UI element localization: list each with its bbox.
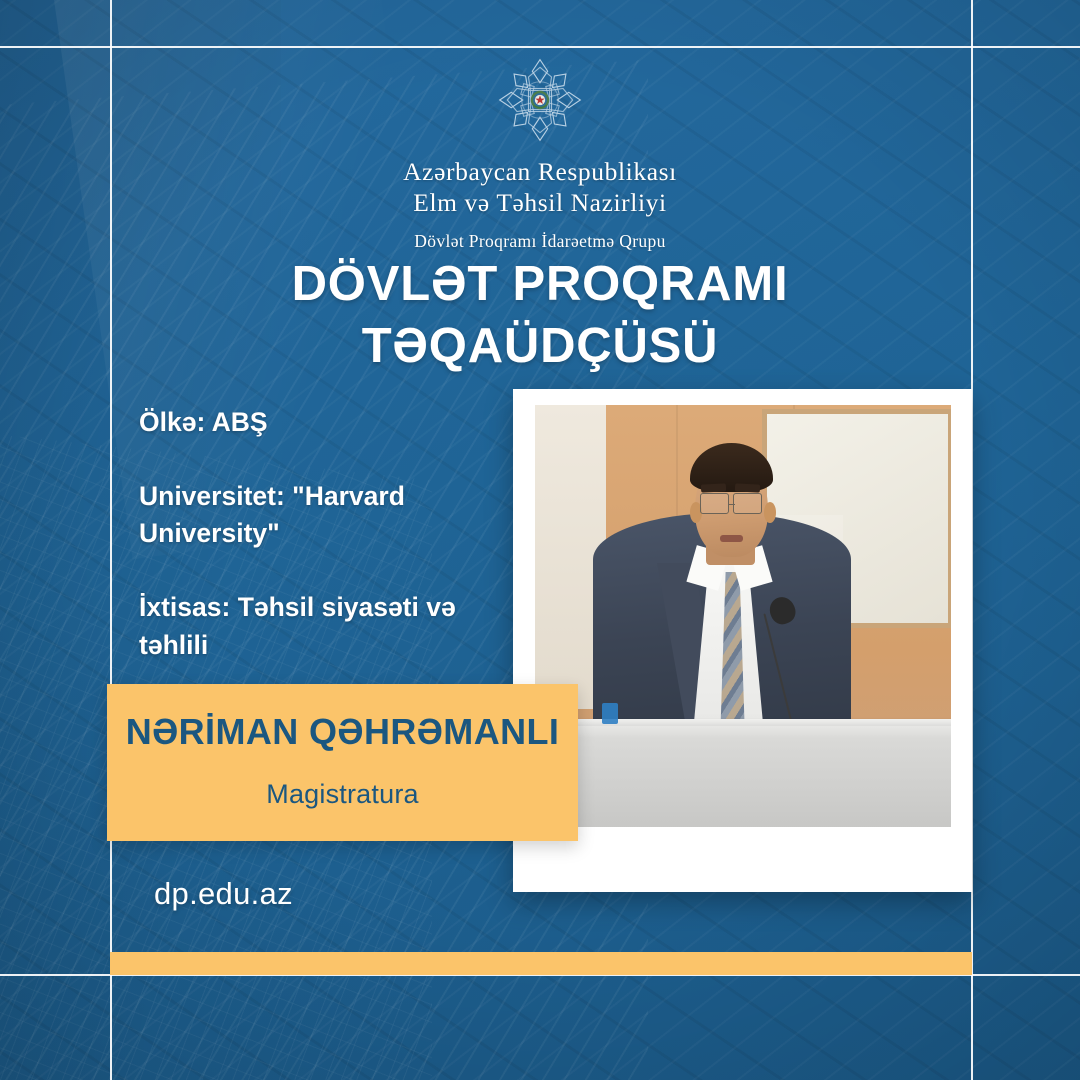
page-title: DÖVLƏT PROQRAMI TƏQAÜDÇÜSÜ [0,253,1080,377]
scholar-name-banner: NƏRİMAN QƏHRƏMANLI Magistratura [107,684,578,841]
emblem-center-crest [531,91,549,109]
photo-gradient-overlay [535,405,951,827]
website-url[interactable]: dp.edu.az [154,876,293,912]
scholarship-details: Ölkə: ABŞ Universitet: "Harvard Universi… [139,404,511,664]
ministry-name-line2: Elm və Təhsil Nazirliyi [403,187,677,218]
detail-specialty: İxtisas: Təhsil siyasəti və təhlili [139,589,511,664]
ministry-name-line1: Azərbaycan Respublikası [403,156,677,187]
ministry-name: Azərbaycan Respublikası Elm və Təhsil Na… [403,156,677,218]
page-title-line2: TƏQAÜDÇÜSÜ [0,315,1080,377]
header-block: Azərbaycan Respublikası Elm və Təhsil Na… [0,52,1080,252]
scholarship-announcement-poster: Azərbaycan Respublikası Elm və Təhsil Na… [0,0,1080,1080]
scholar-photo [535,405,951,827]
scholar-name: NƏRİMAN QƏHRƏMANLI [126,711,560,753]
azerbaijan-ministry-emblem-icon [492,52,588,148]
program-group-subtitle: Dövlət Proqramı İdarəetmə Qrupu [414,231,665,252]
detail-country: Ölkə: ABŞ [139,404,511,442]
page-title-line1: DÖVLƏT PROQRAMI [0,253,1080,315]
scholar-degree: Magistratura [266,779,418,810]
scholar-photo-card [513,389,972,892]
detail-university: Universitet: "Harvard University" [139,478,511,553]
frame-rule-horizontal-top [0,46,1080,48]
bottom-accent-bar [110,952,972,975]
